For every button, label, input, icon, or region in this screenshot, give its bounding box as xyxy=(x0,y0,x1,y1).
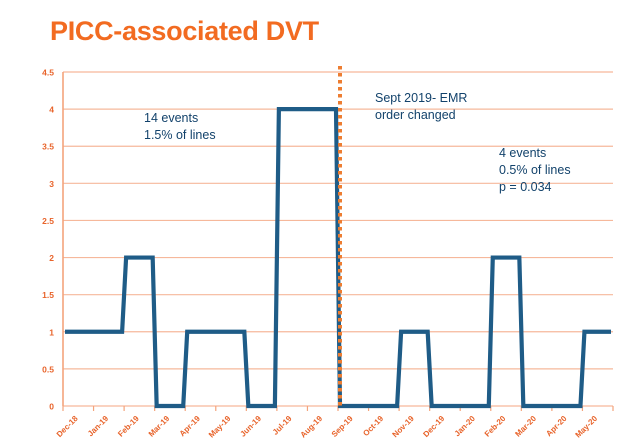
annotation-pre-line1: 14 events xyxy=(144,110,216,127)
slide-canvas: PICC-associated DVT 00.511.522.533.544.5… xyxy=(0,0,642,448)
x-axis-tick-label: Feb-20 xyxy=(483,414,508,439)
annotation-pre-line2: 1.5% of lines xyxy=(144,127,216,144)
x-axis-tick-label: Nov-19 xyxy=(391,414,417,440)
y-axis-tick-label: 0 xyxy=(49,402,54,412)
y-axis-tick-label: 4.5 xyxy=(42,68,54,78)
chart-plot-area: 00.511.522.533.544.5 Dec-18Jan-19Feb-19M… xyxy=(0,0,642,448)
x-axis-tick-label: Mar-19 xyxy=(147,414,172,439)
dvt-line-chart: 00.511.522.533.544.5 Dec-18Jan-19Feb-19M… xyxy=(0,0,642,448)
y-axis-tick-label: 2.5 xyxy=(42,216,54,226)
y-axis-tick-labels: 00.511.522.533.544.5 xyxy=(42,68,54,412)
x-axis-tick-label: Dec-19 xyxy=(421,414,446,439)
x-axis-tick-label: Oct-19 xyxy=(361,414,385,438)
y-axis-tick-label: 4 xyxy=(49,105,54,115)
x-axis-tick-label: Jan-19 xyxy=(86,414,111,439)
annotation-intervention: Sept 2019- EMR order changed xyxy=(375,90,467,124)
x-axis-tick-label: May-19 xyxy=(207,414,233,440)
x-axis-tick-label: Sep-19 xyxy=(330,414,355,439)
x-axis-tick-label: Dec-18 xyxy=(55,414,80,439)
y-axis-tick-label: 2 xyxy=(49,253,54,263)
x-axis-tick-label: Jul-19 xyxy=(271,414,294,437)
y-axis-tick-label: 0.5 xyxy=(42,364,54,374)
y-axis-tick-label: 3 xyxy=(49,179,54,189)
y-axis-tick-label: 3.5 xyxy=(42,142,54,152)
x-axis-tick-label: Apr-20 xyxy=(544,414,569,439)
y-axis-tick-label: 1.5 xyxy=(42,290,54,300)
x-axis-tick-label: Jun-19 xyxy=(238,414,263,439)
annotation-post-period: 4 events 0.5% of lines p = 0.034 xyxy=(499,145,571,196)
x-axis-tick-label: Feb-19 xyxy=(116,414,141,439)
annotation-intervention-line2: order changed xyxy=(375,107,467,124)
annotation-post-line1: 4 events xyxy=(499,145,571,162)
x-axis-tick-labels: Dec-18Jan-19Feb-19Mar-19Apr-19May-19Jun-… xyxy=(55,414,600,440)
annotation-post-line3: p = 0.034 xyxy=(499,179,571,196)
annotation-intervention-line1: Sept 2019- EMR xyxy=(375,90,467,107)
x-axis-tick-label: May-20 xyxy=(574,414,600,440)
x-axis-tick-label: Aug-19 xyxy=(299,414,325,440)
x-axis-tick-label: Apr-19 xyxy=(178,414,203,439)
x-axis-tick-label: Jan-20 xyxy=(453,414,478,439)
annotation-pre-period: 14 events 1.5% of lines xyxy=(144,110,216,144)
y-axis-tick-label: 1 xyxy=(49,327,54,337)
annotation-post-line2: 0.5% of lines xyxy=(499,162,571,179)
x-axis-tick-label: Mar-20 xyxy=(513,414,538,439)
